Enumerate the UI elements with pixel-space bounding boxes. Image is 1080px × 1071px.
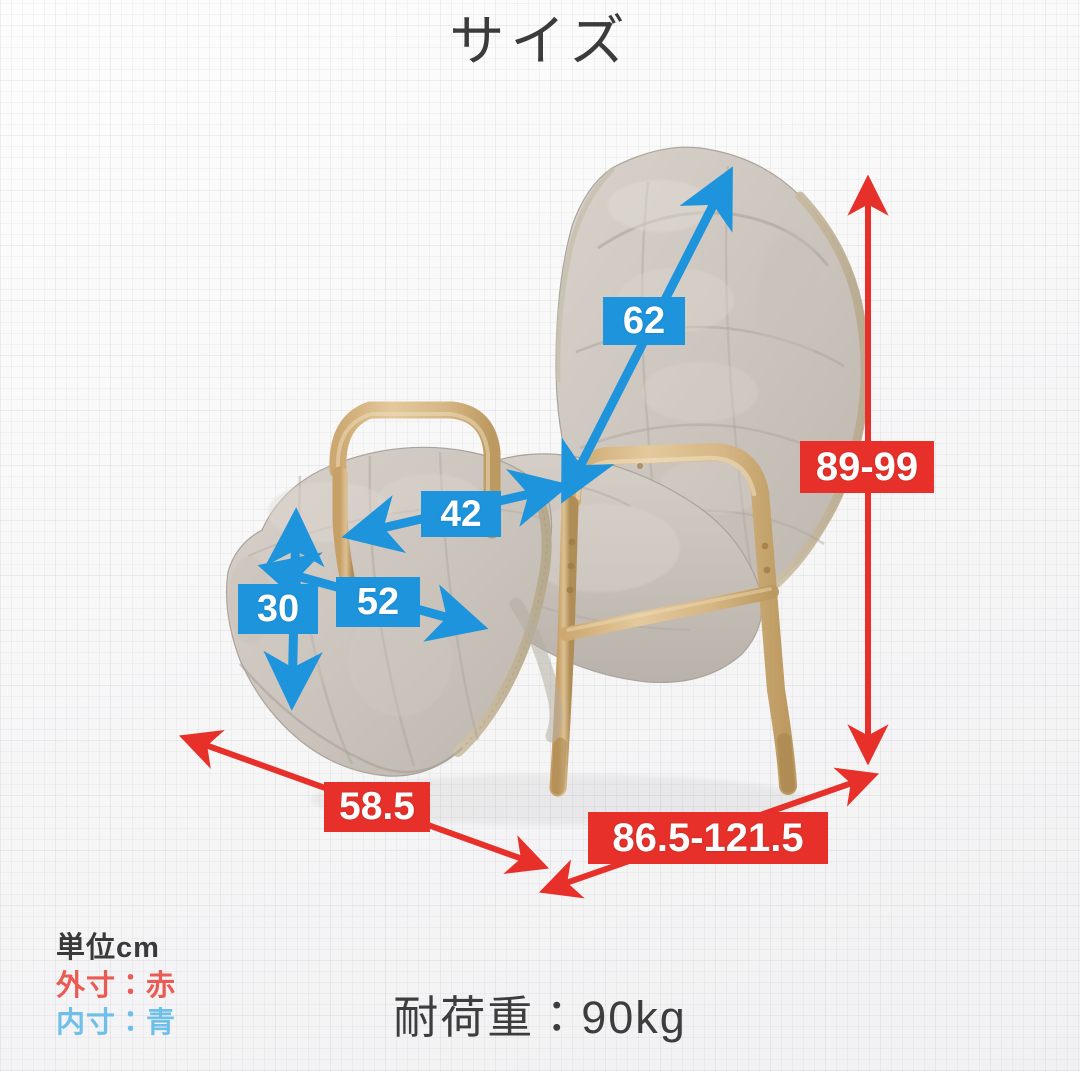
label-thickness: 30 [238, 584, 318, 634]
label-seat-depth: 52 [336, 577, 420, 627]
label-seat-width: 42 [421, 491, 501, 537]
label-backrest: 62 [603, 297, 685, 345]
load-capacity: 耐荷重：90kg [0, 995, 1080, 1040]
label-width: 58.5 [324, 782, 430, 832]
label-height: 89-99 [800, 441, 934, 493]
label-depth: 86.5-121.5 [588, 812, 828, 864]
size-diagram-page: サイズ [0, 0, 1080, 1071]
legend-unit: 単位cm [56, 930, 176, 968]
product-illustration [0, 0, 1080, 1071]
